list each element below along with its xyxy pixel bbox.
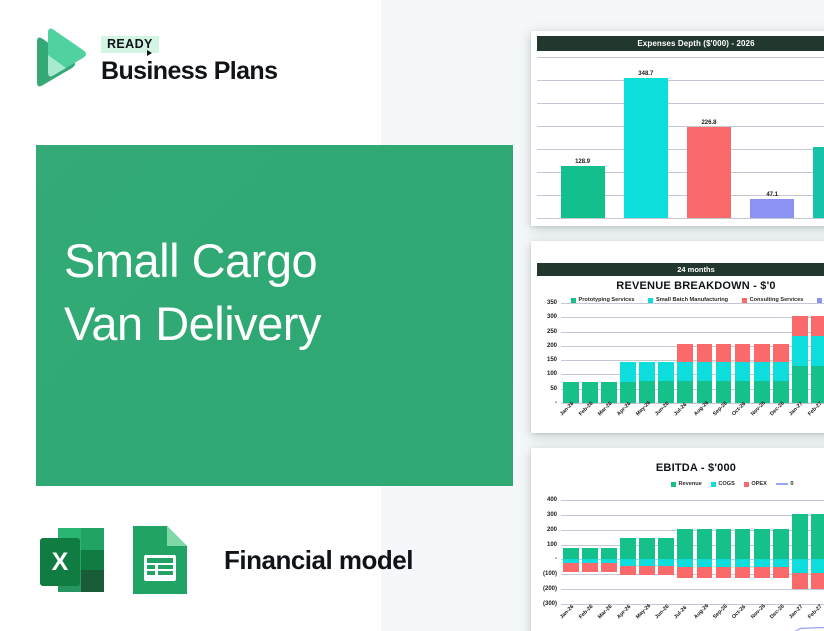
- bar-segment[interactable]: [677, 381, 693, 403]
- axis-tick-label: (300): [543, 601, 557, 607]
- expenses-bar-group: 128.9348.7226.847.1176.5: [551, 57, 824, 218]
- revenue-subtitle-band: 24 months: [537, 263, 824, 276]
- footer-label: Financial model: [224, 545, 413, 576]
- x-tick: Dec-26: [767, 616, 783, 631]
- stacked-bar-column[interactable]: [620, 303, 636, 403]
- legend-swatch: [744, 482, 749, 487]
- bar-segment[interactable]: [754, 344, 770, 361]
- x-tick: Apr-26: [614, 413, 630, 431]
- axis-tick-label: 400: [547, 497, 557, 503]
- bar-segment[interactable]: [677, 344, 693, 361]
- play-double-icon: [28, 28, 88, 90]
- bar-column[interactable]: 176.5: [813, 57, 824, 218]
- bar-segment[interactable]: [677, 362, 693, 382]
- ebitda-legend: RevenueCOGSOPEX0: [671, 481, 793, 487]
- stacked-bar-column[interactable]: [601, 303, 617, 403]
- axis-tick-label: 200: [547, 527, 557, 533]
- x-tick: May-26: [633, 413, 649, 431]
- revenue-plot-area: 35030025020015010050-: [537, 303, 824, 403]
- axis-tick-label: 300: [547, 512, 557, 518]
- bar-segment[interactable]: [735, 344, 751, 361]
- x-tick: Aug-26: [691, 616, 707, 631]
- page-title: Small Cargo Van Delivery: [64, 229, 321, 355]
- stacked-bar-column[interactable]: [792, 303, 808, 403]
- x-tick: Apr-26: [614, 616, 630, 631]
- bar[interactable]: [750, 199, 794, 218]
- hero-block: Small Cargo Van Delivery: [36, 145, 513, 486]
- bar-segment[interactable]: [716, 362, 732, 382]
- bar-segment[interactable]: [792, 366, 808, 403]
- x-tick: Jul-26: [671, 616, 687, 631]
- x-tick: Jan-26: [557, 413, 573, 431]
- bar[interactable]: [624, 78, 668, 218]
- bar-segment[interactable]: [773, 362, 789, 382]
- stacked-bar-column[interactable]: [754, 303, 770, 403]
- stacked-bar-column[interactable]: [811, 303, 824, 403]
- revenue-x-axis: Jan-26Feb-26Mar-26Apr-26May-26Jun-26Jul-…: [555, 413, 824, 431]
- stacked-bar-column[interactable]: [735, 303, 751, 403]
- gridline: [537, 218, 824, 219]
- legend-swatch: [776, 483, 788, 485]
- bar[interactable]: [687, 127, 731, 218]
- poster-canvas: READY Business Plans Small Cargo Van Del…: [0, 0, 824, 631]
- brand-text-block: READY Business Plans: [101, 33, 277, 85]
- bar-value-label: 348.7: [624, 71, 668, 77]
- legend-label: Revenue: [679, 481, 702, 487]
- bar-value-label: 47.1: [750, 192, 794, 198]
- axis-tick-label: (200): [543, 586, 557, 592]
- bar-column[interactable]: 226.8: [687, 57, 731, 218]
- axis-tick-label: 100: [547, 371, 557, 377]
- legend-label: COGS: [718, 481, 734, 487]
- ebitda-chart-title: EBITDA - $'000: [531, 462, 824, 474]
- footer-row: X Financial model: [36, 522, 413, 598]
- ebitda-plot-area: 400300200100-(100)(200)(300): [537, 500, 824, 604]
- x-tick: Jun-26: [652, 616, 668, 631]
- x-tick-label: Jul-26: [673, 402, 688, 417]
- legend-item[interactable]: OPEX: [744, 481, 767, 487]
- x-tick: Dec-26: [767, 413, 783, 431]
- axis-tick-label: (100): [543, 571, 557, 577]
- bar-segment[interactable]: [658, 362, 674, 382]
- bar-value-label: 128.9: [561, 159, 605, 165]
- ebitda-stack-wrap: [561, 500, 824, 604]
- brand-title: Business Plans: [101, 57, 277, 85]
- bar-value-label: 226.8: [687, 120, 731, 126]
- bar-segment[interactable]: [697, 344, 713, 361]
- x-tick: Oct-26: [729, 616, 745, 631]
- axis-tick-label: 300: [547, 314, 557, 320]
- legend-item[interactable]: Revenue: [671, 481, 702, 487]
- x-tick: Jan-26: [557, 616, 573, 631]
- stacked-bar-column[interactable]: [582, 303, 598, 403]
- bar-value-label: 176.5: [813, 140, 824, 146]
- bar-segment[interactable]: [792, 316, 808, 337]
- legend-swatch: [711, 482, 716, 487]
- axis-tick-label: -: [555, 400, 557, 406]
- chart-card-expenses[interactable]: Expenses Depth ($'000) - 2026 128.9348.7…: [531, 31, 824, 226]
- x-tick: Jun-26: [652, 413, 668, 431]
- stacked-bar-column[interactable]: [639, 303, 655, 403]
- axis-tick-label: 200: [547, 343, 557, 349]
- stacked-bar-column[interactable]: [677, 303, 693, 403]
- stacked-bar-column[interactable]: [697, 303, 713, 403]
- legend-label: OPEX: [751, 481, 767, 487]
- bar-segment[interactable]: [697, 362, 713, 382]
- svg-text:X: X: [52, 548, 69, 576]
- bar-column[interactable]: 128.9: [561, 57, 605, 218]
- x-tick: Sep-26: [710, 616, 726, 631]
- axis-tick-label: 100: [547, 542, 557, 548]
- bar-segment[interactable]: [811, 336, 824, 366]
- axis-tick-label: 50: [550, 386, 557, 392]
- legend-swatch: [742, 298, 747, 303]
- revenue-stack-wrap: [561, 303, 824, 403]
- bar-column[interactable]: 348.7: [624, 57, 668, 218]
- google-sheets-icon: [127, 522, 193, 598]
- ebitda-x-axis: Jan-26Feb-26Mar-26Apr-26May-26Jun-26Jul-…: [555, 616, 824, 631]
- bar-segment[interactable]: [754, 362, 770, 382]
- x-tick: Feb-26: [576, 616, 592, 631]
- ebitda-y-axis: 400300200100-(100)(200)(300): [537, 500, 559, 604]
- bar-segment[interactable]: [811, 366, 824, 403]
- legend-swatch: [648, 298, 653, 303]
- x-tick: Feb-27: [805, 616, 821, 631]
- axis-tick-label: 250: [547, 329, 557, 335]
- bar-segment[interactable]: [792, 336, 808, 366]
- microsoft-excel-icon: X: [36, 522, 108, 598]
- small-play-icon: [147, 50, 152, 56]
- bar-segment[interactable]: [620, 382, 636, 403]
- legend-swatch: [571, 298, 576, 303]
- expenses-chart-title: Expenses Depth ($'000) - 2026: [537, 36, 824, 51]
- bar-segment[interactable]: [773, 344, 789, 361]
- x-tick: Nov-26: [748, 413, 764, 431]
- legend-swatch: [671, 482, 676, 487]
- bar-segment[interactable]: [620, 362, 636, 382]
- x-tick: Feb-26: [576, 413, 592, 431]
- expenses-plot-area: 128.9348.7226.847.1176.5: [537, 57, 824, 218]
- bar-segment[interactable]: [811, 316, 824, 337]
- legend-item[interactable]: 0: [776, 481, 794, 487]
- x-tick: Nov-26: [748, 616, 764, 631]
- axis-tick-label: 350: [547, 300, 557, 306]
- revenue-bar-group: [561, 303, 824, 403]
- x-tick: Mar-26: [595, 616, 611, 631]
- x-tick: Jan-27: [786, 413, 802, 431]
- chart-card-revenue[interactable]: 24 months REVENUE BREAKDOWN - $'0 Protot…: [531, 241, 824, 433]
- x-tick: Jan-27: [786, 616, 802, 631]
- legend-label: 0: [790, 481, 793, 487]
- legend-swatch: [817, 298, 822, 303]
- brand-lockup: READY Business Plans: [28, 28, 277, 90]
- bar-segment[interactable]: [735, 381, 751, 403]
- x-tick: May-26: [633, 616, 649, 631]
- x-tick: Sep-26: [710, 413, 726, 431]
- x-tick: Mar-26: [595, 413, 611, 431]
- x-tick: Jul-26: [671, 413, 687, 431]
- bar-column[interactable]: 47.1: [750, 57, 794, 218]
- axis-tick-label: 150: [547, 357, 557, 363]
- axis-tick-label: -: [555, 556, 557, 562]
- x-tick: Oct-26: [729, 413, 745, 431]
- stacked-bar-column[interactable]: [773, 303, 789, 403]
- revenue-y-axis: 35030025020015010050-: [537, 303, 559, 403]
- bar-segment[interactable]: [639, 362, 655, 382]
- bar[interactable]: [813, 147, 824, 218]
- bar[interactable]: [561, 166, 605, 218]
- bar-segment[interactable]: [735, 362, 751, 382]
- stacked-bar-column[interactable]: [563, 303, 579, 403]
- revenue-chart-title: REVENUE BREAKDOWN - $'0: [531, 280, 824, 292]
- chart-card-ebitda[interactable]: EBITDA - $'000 RevenueCOGSOPEX0 40030020…: [531, 448, 824, 631]
- stacked-bar-column[interactable]: [658, 303, 674, 403]
- legend-item[interactable]: COGS: [711, 481, 735, 487]
- x-tick: Aug-26: [691, 413, 707, 431]
- x-tick: Feb-27: [805, 413, 821, 431]
- bar-segment[interactable]: [716, 344, 732, 361]
- stacked-bar-column[interactable]: [716, 303, 732, 403]
